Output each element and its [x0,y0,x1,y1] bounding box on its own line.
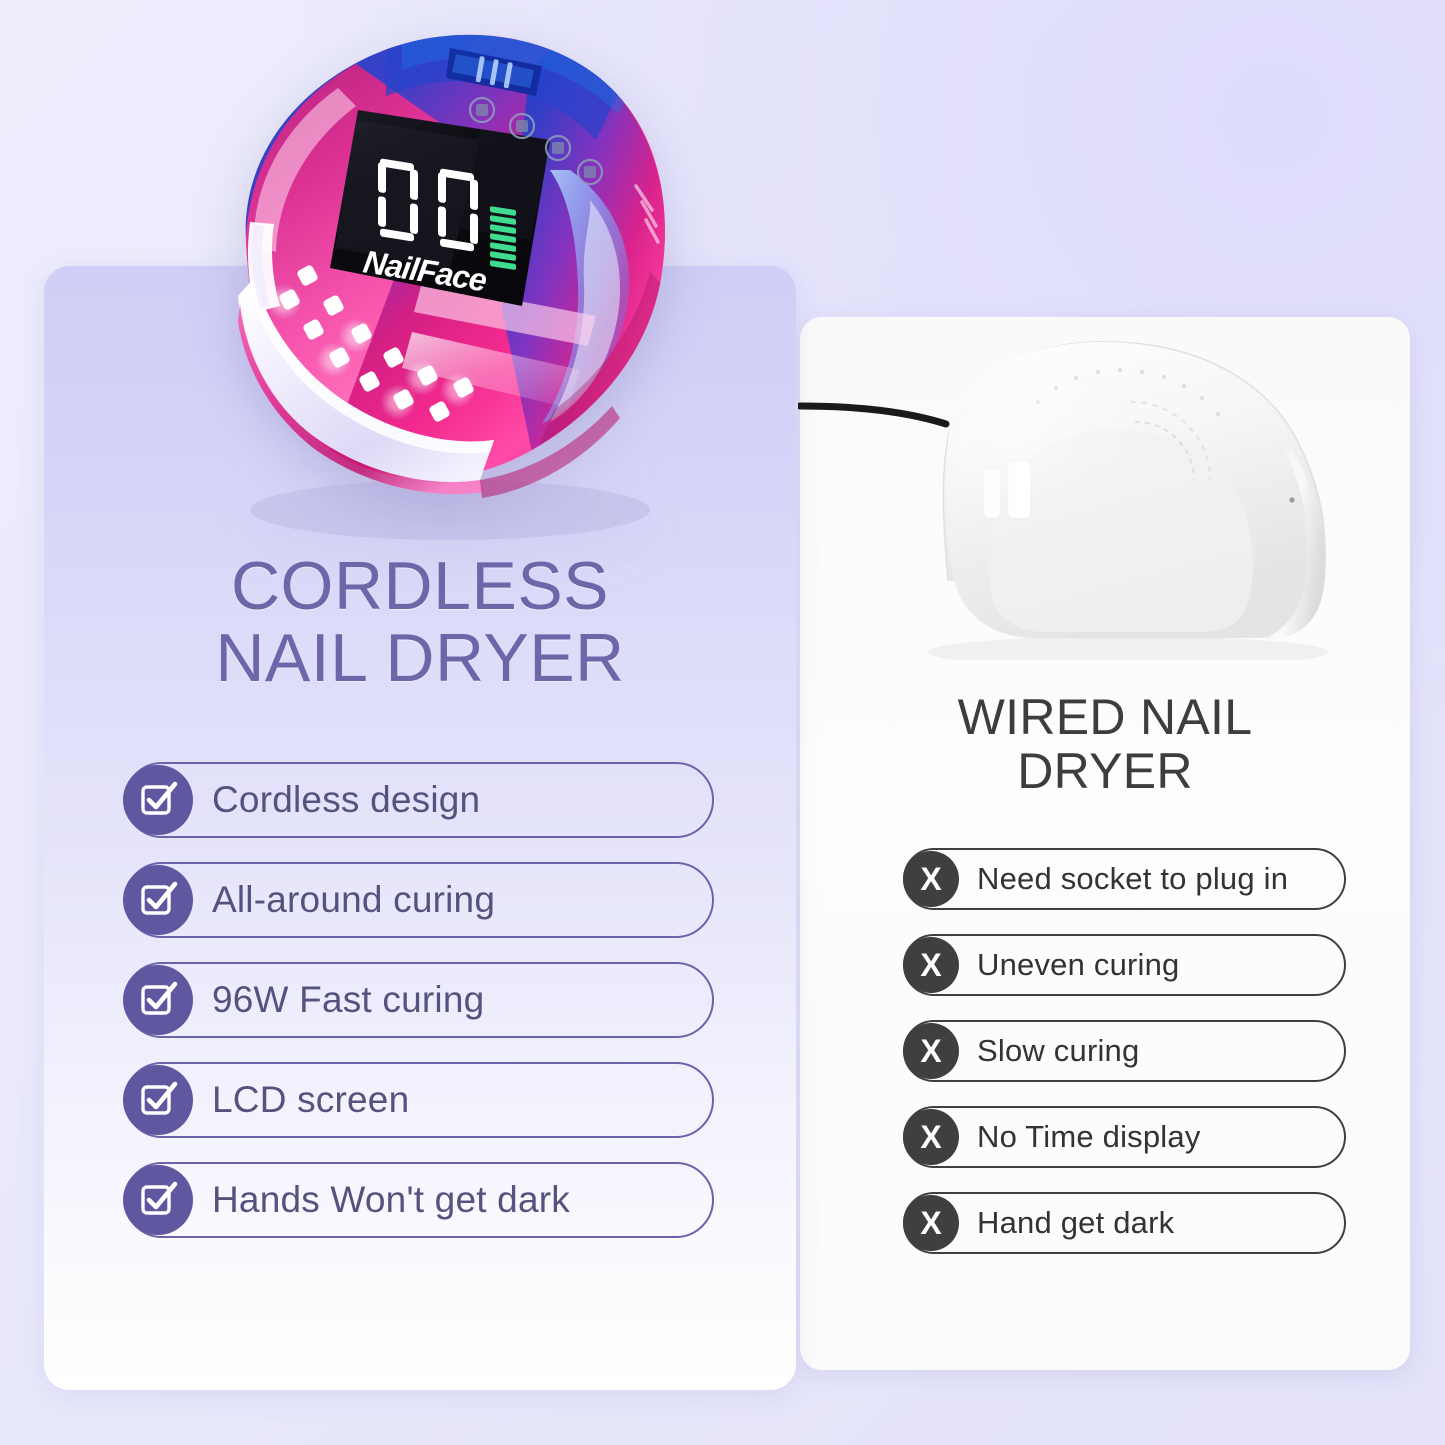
checkbox-check-icon [123,965,193,1035]
drawback-label: Need socket to plug in [977,861,1288,897]
x-mark-icon: X [903,1195,959,1251]
feature-label: All-around curing [212,879,495,921]
wired-title: WIRED NAIL DRYER [800,690,1410,798]
wired-nail-dryer-image [798,330,1410,660]
list-item: 96W Fast curing [124,962,714,1038]
list-item: Hands Won't get dark [124,1162,714,1238]
cordless-title-line-1: CORDLESS [44,550,796,622]
wired-title-line-2: DRYER [800,744,1410,798]
checkbox-check-icon [123,865,193,935]
feature-label: Cordless design [212,779,480,821]
list-item: Cordless design [124,762,714,838]
cordless-title-line-2: NAIL DRYER [44,622,796,694]
list-item: X Need socket to plug in [903,848,1346,910]
wired-drawback-list: X Need socket to plug in X Uneven curing… [903,848,1346,1254]
drawback-label: Uneven curing [977,947,1180,983]
list-item: X Uneven curing [903,934,1346,996]
wired-title-line-1: WIRED NAIL [800,690,1410,744]
x-mark-icon: X [903,1109,959,1165]
list-item: All-around curing [124,862,714,938]
list-item: X No Time display [903,1106,1346,1168]
checkbox-check-icon [123,1165,193,1235]
feature-label: 96W Fast curing [212,979,484,1021]
checkbox-check-icon [123,765,193,835]
cordless-feature-list: Cordless design All-around curing 96W Fa… [124,762,714,1238]
feature-label: Hands Won't get dark [212,1179,570,1221]
drawback-label: Hand get dark [977,1205,1174,1241]
x-mark-icon: X [903,851,959,907]
x-mark-icon: X [903,937,959,993]
drawback-label: No Time display [977,1119,1201,1155]
feature-label: LCD screen [212,1079,409,1121]
lcd-panel: NailFace [330,110,554,306]
drawback-label: Slow curing [977,1033,1139,1069]
cordless-nail-lamp-image: NailFace [150,10,730,555]
checkbox-check-icon [123,1065,193,1135]
list-item: LCD screen [124,1062,714,1138]
cordless-title: CORDLESS NAIL DRYER [44,550,796,694]
x-mark-icon: X [903,1023,959,1079]
list-item: X Hand get dark [903,1192,1346,1254]
power-cord-icon [800,406,946,424]
list-item: X Slow curing [903,1020,1346,1082]
